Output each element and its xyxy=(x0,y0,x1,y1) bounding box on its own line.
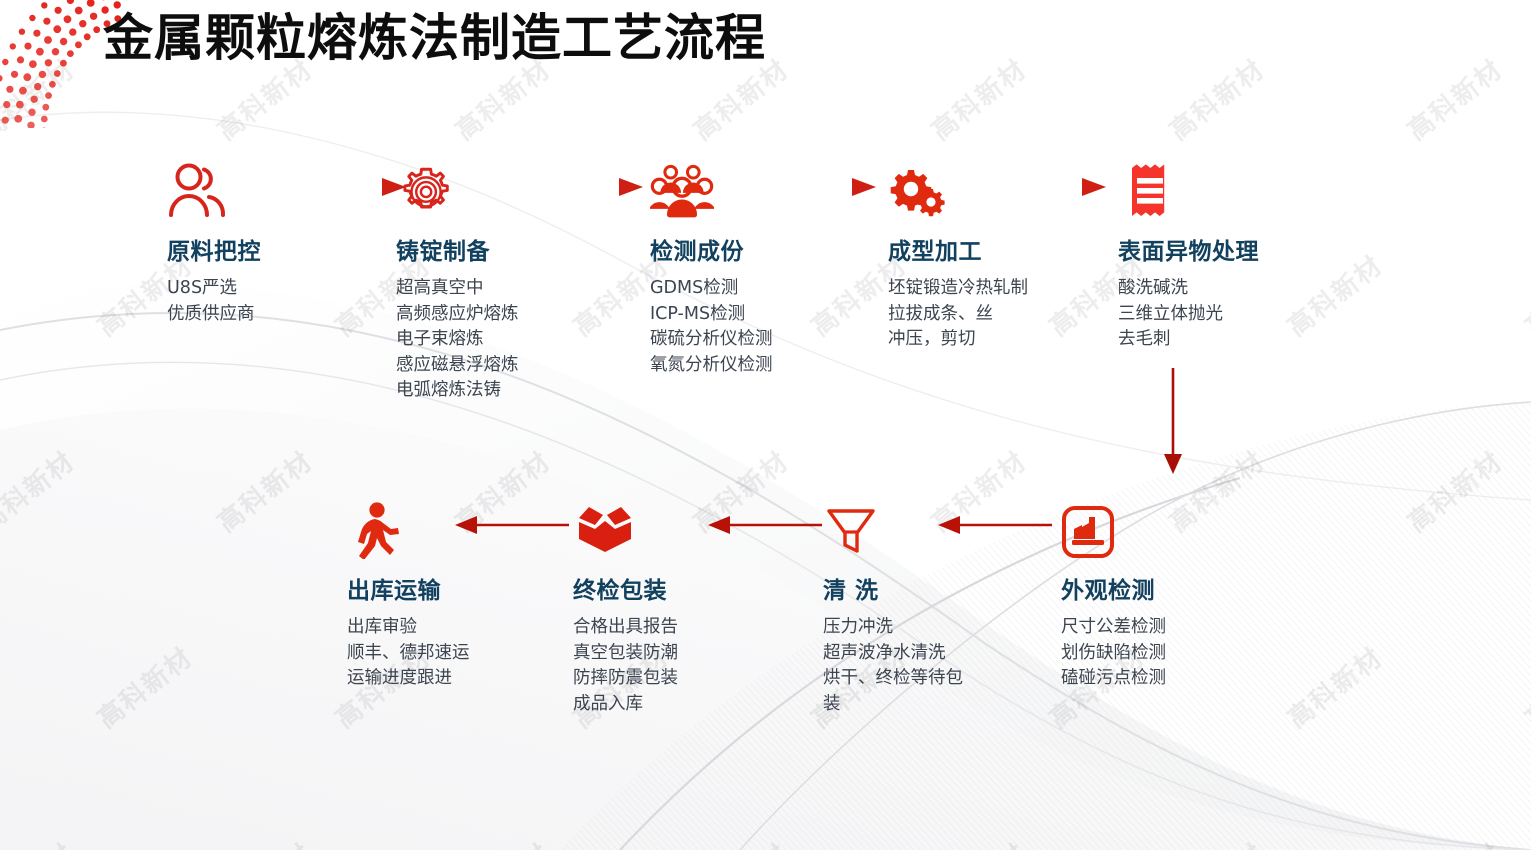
step-title: 表面异物处理 xyxy=(1118,232,1259,266)
step-line: 超高真空中 xyxy=(396,276,519,302)
step-title: 检测成份 xyxy=(650,232,773,266)
arrow-2-right xyxy=(527,175,643,199)
step-title: 铸锭制备 xyxy=(396,232,519,266)
step-line: 碳硫分析仪检测 xyxy=(650,327,773,353)
step-line: 真空包装防潮 xyxy=(573,641,678,667)
step-title: 成型加工 xyxy=(888,232,1028,266)
step-final-inspection-packaging[interactable]: 终检包装 合格出具报告 真空包装防潮 防摔防震包装 成品入库 xyxy=(573,497,678,717)
step-line: 冲压，剪切 xyxy=(888,327,1028,353)
arrow-6-left xyxy=(708,513,822,537)
step-line: 坯锭锻造冷热轧制 xyxy=(888,276,1028,302)
two-gears-icon xyxy=(888,158,1028,220)
step-line: 电子束熔炼 xyxy=(396,327,519,353)
step-ingot-preparation[interactable]: 铸锭制备 超高真空中 高频感应炉熔炼 电子束熔炼 感应磁悬浮熔炼 电弧熔炼法铸 xyxy=(396,158,519,404)
step-line: 运输进度跟进 xyxy=(347,666,470,692)
page-title: 金属颗粒熔炼法制造工艺流程 xyxy=(103,6,766,70)
step-line: 电弧熔炼法铸 xyxy=(396,378,519,404)
gear-circles-icon xyxy=(396,158,519,220)
step-lines: 坯锭锻造冷热轧制 拉拔成条、丝 冲压，剪切 xyxy=(888,276,1028,353)
step-line: 尺寸公差检测 xyxy=(1061,615,1166,641)
two-people-icon xyxy=(167,158,261,220)
step-line: 超声波净水清洗 xyxy=(823,641,973,667)
step-line: 合格出具报告 xyxy=(573,615,678,641)
arrow-1-right xyxy=(290,175,406,199)
arrow-7-left xyxy=(455,513,569,537)
step-composition-inspection[interactable]: 检测成份 GDMS检测 ICP-MS检测 碳硫分析仪检测 氧氮分析仪检测 xyxy=(650,158,773,378)
factory-badge-icon xyxy=(1061,497,1166,559)
step-lines: 合格出具报告 真空包装防潮 防摔防震包装 成品入库 xyxy=(573,615,678,717)
step-forming-processing[interactable]: 成型加工 坯锭锻造冷热轧制 拉拔成条、丝 冲压，剪切 xyxy=(888,158,1028,353)
step-line: 防摔防震包装 xyxy=(573,666,678,692)
open-box-icon xyxy=(573,497,678,559)
step-lines: 尺寸公差检测 划伤缺陷检测 磕碰污点检测 xyxy=(1061,615,1166,692)
step-title: 外观检测 xyxy=(1061,571,1166,605)
step-line: 去毛刺 xyxy=(1118,327,1259,353)
step-lines: 出库审验 顺丰、德邦速运 运输进度跟进 xyxy=(347,615,470,692)
step-lines: 超高真空中 高频感应炉熔炼 电子束熔炼 感应磁悬浮熔炼 电弧熔炼法铸 xyxy=(396,276,519,404)
step-surface-foreign-matter-treatment[interactable]: 表面异物处理 酸洗碱洗 三维立体抛光 去毛刺 xyxy=(1118,158,1259,353)
arrow-down xyxy=(1157,368,1189,476)
step-title: 终检包装 xyxy=(573,571,678,605)
receipt-lines-icon xyxy=(1118,158,1259,220)
step-cleaning[interactable]: 清 洗 压力冲洗 超声波净水清洗 烘干、终检等待包装 xyxy=(823,497,973,717)
step-line: U8S严选 xyxy=(167,276,261,302)
step-line: 拉拔成条、丝 xyxy=(888,302,1028,328)
step-appearance-inspection[interactable]: 外观检测 尺寸公差检测 划伤缺陷检测 磕碰污点检测 xyxy=(1061,497,1166,692)
step-title: 原料把控 xyxy=(167,232,261,266)
step-title: 清 洗 xyxy=(823,571,973,605)
step-lines: 压力冲洗 超声波净水清洗 烘干、终检等待包装 xyxy=(823,615,973,717)
step-raw-material-control[interactable]: 原料把控 U8S严选 优质供应商 xyxy=(167,158,261,327)
step-line: 优质供应商 xyxy=(167,302,261,328)
step-line: 烘干、终检等待包装 xyxy=(823,666,973,717)
step-line: 压力冲洗 xyxy=(823,615,973,641)
arrow-3-right xyxy=(760,175,876,199)
step-outbound-transport[interactable]: 出库运输 出库审验 顺丰、德邦速运 运输进度跟进 xyxy=(347,497,470,692)
step-line: 高频感应炉熔炼 xyxy=(396,302,519,328)
step-line: 氧氮分析仪检测 xyxy=(650,353,773,379)
step-lines: GDMS检测 ICP-MS检测 碳硫分析仪检测 氧氮分析仪检测 xyxy=(650,276,773,378)
step-lines: U8S严选 优质供应商 xyxy=(167,276,261,327)
funnel-icon xyxy=(823,497,973,559)
step-line: 成品入库 xyxy=(573,692,678,718)
walking-person-icon xyxy=(347,497,470,559)
step-lines: 酸洗碱洗 三维立体抛光 去毛刺 xyxy=(1118,276,1259,353)
step-line: GDMS检测 xyxy=(650,276,773,302)
step-line: 感应磁悬浮熔炼 xyxy=(396,353,519,379)
step-line: 磕碰污点检测 xyxy=(1061,666,1166,692)
step-title: 出库运输 xyxy=(347,571,470,605)
step-line: 酸洗碱洗 xyxy=(1118,276,1259,302)
process-flow-diagram: 原料把控 U8S严选 优质供应商 铸锭制备 超高真空中 高频感应炉熔炼 电子束熔… xyxy=(0,0,1531,850)
step-line: ICP-MS检测 xyxy=(650,302,773,328)
step-line: 划伤缺陷检测 xyxy=(1061,641,1166,667)
step-line: 出库审验 xyxy=(347,615,470,641)
step-line: 三维立体抛光 xyxy=(1118,302,1259,328)
step-line: 顺丰、德邦速运 xyxy=(347,641,470,667)
people-group-icon xyxy=(650,158,773,220)
